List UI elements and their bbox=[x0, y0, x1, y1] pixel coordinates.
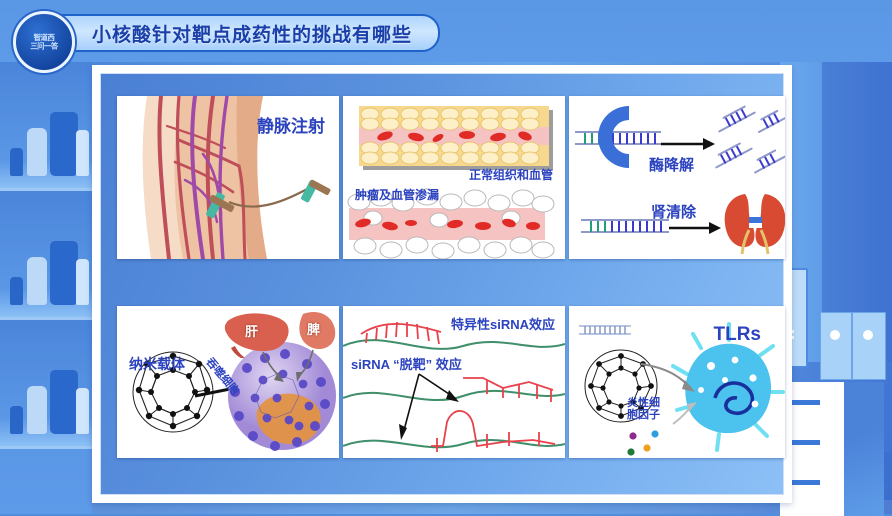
locker-knob-b bbox=[863, 330, 873, 340]
cabinet-side-shadow bbox=[844, 382, 884, 516]
liver-label: 肝 bbox=[245, 321, 258, 340]
jar-tall-pale-1 bbox=[76, 130, 89, 176]
degradation-and-clearance-panel[interactable]: 酶降解 肾清除 bbox=[569, 96, 785, 259]
iv-injection-caption: 静脉注射 bbox=[257, 112, 325, 137]
specific-sirna-effect-label: 特异性siRNA效应 bbox=[451, 314, 555, 333]
renal-clearance-label: 肾清除 bbox=[651, 201, 696, 222]
page-title-pill: 小核酸针对靶点成药性的挑战有哪些 bbox=[44, 14, 440, 52]
jar-tall-pale-2 bbox=[76, 259, 89, 305]
right-cabinet-unit bbox=[780, 62, 892, 514]
page-title: 小核酸针对靶点成药性的挑战有哪些 bbox=[92, 20, 412, 47]
jar-small-dark-2 bbox=[10, 277, 23, 305]
header-bar: 小核酸针对靶点成药性的挑战有哪些 智道西三问一答 bbox=[0, 0, 892, 62]
slide-board: 静脉注射 bbox=[92, 65, 792, 503]
cabinet-locker-a[interactable] bbox=[820, 312, 852, 380]
jar-small-dark-1 bbox=[10, 148, 23, 176]
jar-small-dark-3 bbox=[10, 406, 23, 434]
normal-tissue-label: 正常组织和血管 bbox=[469, 166, 553, 183]
tumor-leakage-label: 肿瘤及血管渗漏 bbox=[355, 186, 439, 203]
offtarget-sirna-effect-label: siRNA “脱靶” 效应 bbox=[351, 354, 462, 373]
nanocarrier-label: 纳米载体 bbox=[129, 354, 185, 374]
brand-logo-text: 智道西三问一答 bbox=[30, 34, 58, 51]
nanocarrier-uptake-panel[interactable]: 纳米载体 吞噬细胞 肝 脾 bbox=[117, 306, 339, 458]
immune-cell-body bbox=[685, 344, 771, 433]
jar-medium-light-2 bbox=[27, 257, 47, 305]
slide-board-inner: 静脉注射 bbox=[100, 73, 784, 495]
jar-medium-light-3 bbox=[27, 386, 47, 434]
left-shelf-unit bbox=[0, 62, 92, 514]
locker-knob-a bbox=[830, 330, 840, 340]
sirna-effects-panel[interactable]: 特异性siRNA效应 siRNA “脱靶” 效应 bbox=[343, 306, 565, 458]
jar-medium-light-1 bbox=[27, 128, 47, 176]
tlr-immune-response-panel[interactable]: TLRs 炎性细 胞因子 bbox=[569, 306, 785, 458]
enzyme-degradation-label: 酶降解 bbox=[649, 154, 694, 175]
jar-tall-pale-3 bbox=[76, 388, 89, 434]
cytokine-label-line2: 胞因子 bbox=[627, 406, 660, 422]
degradation-clearance-illustration bbox=[569, 96, 785, 259]
spleen-label: 脾 bbox=[307, 319, 320, 338]
tlrs-label: TLRs bbox=[714, 324, 762, 346]
jar-large-dark-1 bbox=[50, 112, 78, 176]
brand-logo-icon[interactable]: 智道西三问一答 bbox=[13, 11, 75, 73]
jar-large-dark-2 bbox=[50, 241, 78, 305]
cabinet-locker-b[interactable] bbox=[852, 312, 886, 380]
jar-large-dark-3 bbox=[50, 370, 78, 434]
intravenous-injection-panel[interactable]: 静脉注射 bbox=[117, 96, 339, 259]
vascular-leakage-panel[interactable]: 正常组织和血管 肿瘤及血管渗漏 bbox=[343, 96, 565, 259]
normal-tissue-block bbox=[359, 106, 553, 170]
